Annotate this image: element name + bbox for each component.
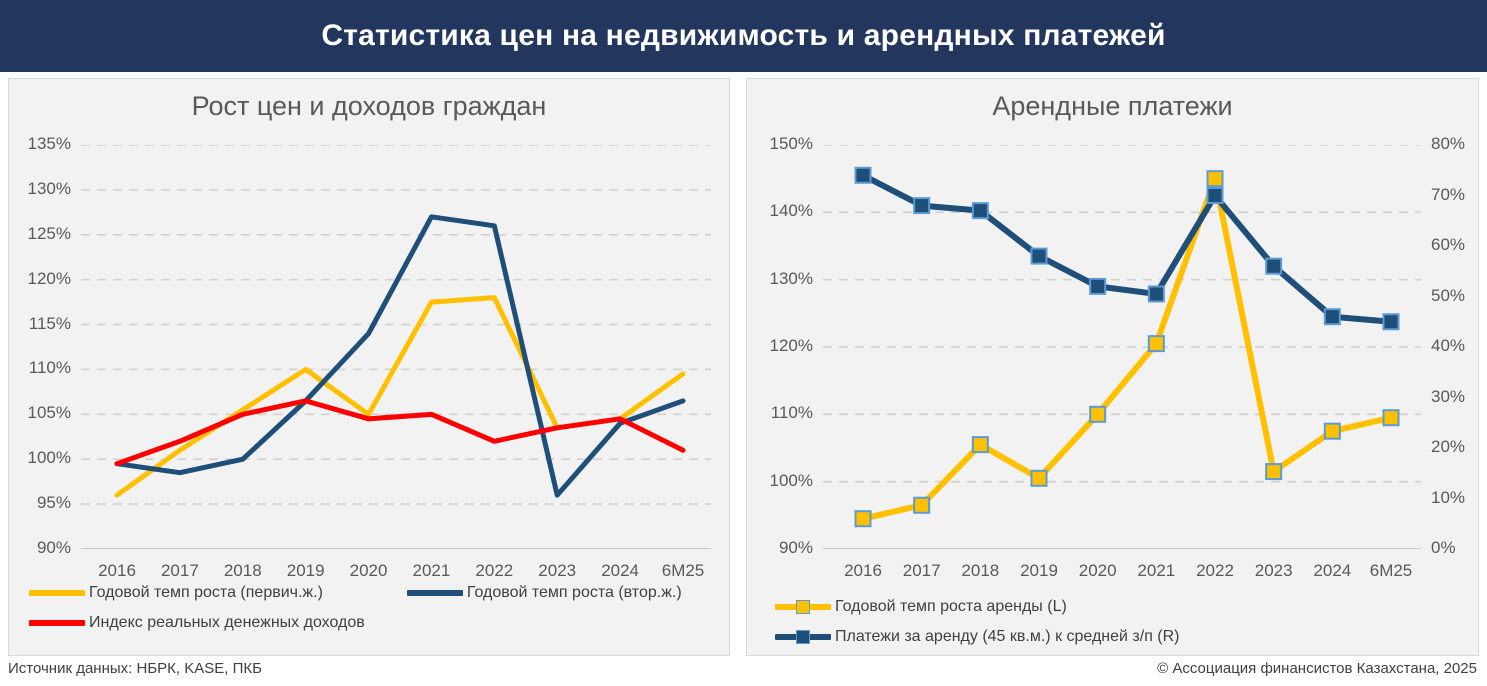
legend-swatch-icon [29, 620, 85, 626]
legend-item[interactable]: Годовой темп роста (втор.ж.) [407, 585, 682, 601]
page-title: Статистика цен на недвижимость и арендны… [321, 19, 1165, 53]
source-note: Источник данных: НБРК, KASE, ПКБ [8, 660, 262, 677]
x-tick-label: 2016 [83, 561, 151, 581]
page-banner: Статистика цен на недвижимость и арендны… [0, 0, 1487, 72]
legend-swatch-icon [29, 590, 85, 596]
y-tick-label-secondary: 60% [1431, 235, 1487, 255]
y-tick-label: 125% [19, 224, 71, 244]
data-point-marker [914, 198, 929, 213]
x-tick-label: 2018 [209, 561, 277, 581]
data-point-marker [914, 498, 929, 513]
legend-swatch-icon [407, 590, 463, 596]
x-tick-label: 6M25 [649, 561, 717, 581]
y-tick-label: 135% [19, 134, 71, 154]
data-point-marker [1208, 171, 1223, 186]
legend-label: Индекс реальных денежных доходов [89, 615, 365, 631]
data-point-marker [1149, 286, 1164, 301]
x-tick-label: 2023 [523, 561, 591, 581]
chart-legend-right: Годовой темп роста аренды (L)Платежи за … [775, 599, 1465, 645]
x-tick-label: 6M25 [1357, 561, 1425, 581]
legend-swatch-icon [775, 634, 831, 640]
y-tick-label: 130% [761, 269, 813, 289]
y-tick-label-secondary: 40% [1431, 336, 1487, 356]
data-point-marker [1090, 279, 1105, 294]
y-tick-label: 120% [19, 269, 71, 289]
x-tick-label: 2021 [397, 561, 465, 581]
y-tick-label: 120% [761, 336, 813, 356]
x-tick-label: 2017 [146, 561, 214, 581]
y-tick-label: 140% [761, 201, 813, 221]
data-point-marker [973, 203, 988, 218]
x-tick-label: 2019 [272, 561, 340, 581]
chart-svg-left [81, 145, 711, 549]
y-tick-label: 115% [19, 314, 71, 334]
data-point-marker [973, 437, 988, 452]
chart-legend-left: Годовой темп роста (первич.ж.)Годовой те… [29, 585, 719, 631]
data-point-marker [856, 168, 871, 183]
data-point-marker [1325, 309, 1340, 324]
y-tick-label: 130% [19, 179, 71, 199]
series-line-0 [863, 179, 1391, 519]
y-tick-label-secondary: 50% [1431, 286, 1487, 306]
legend-item[interactable]: Годовой темп роста (первич.ж.) [29, 585, 323, 601]
legend-label: Годовой темп роста аренды (L) [835, 599, 1067, 615]
y-tick-label: 110% [19, 358, 71, 378]
y-tick-label: 90% [761, 538, 813, 558]
chart-panel-left: Рост цен и доходов граждан 90%95%100%105… [8, 78, 730, 656]
y-tick-label-secondary: 30% [1431, 387, 1487, 407]
legend-swatch-icon [775, 604, 831, 610]
charts-container: Рост цен и доходов граждан 90%95%100%105… [0, 78, 1487, 656]
y-tick-label-secondary: 70% [1431, 185, 1487, 205]
data-point-marker [1208, 188, 1223, 203]
y-tick-label: 95% [19, 493, 71, 513]
legend-label: Годовой темп роста (втор.ж.) [467, 585, 682, 601]
y-tick-label-secondary: 80% [1431, 134, 1487, 154]
data-point-marker [1266, 464, 1281, 479]
data-point-marker [1149, 336, 1164, 351]
x-tick-label: 2024 [586, 561, 654, 581]
y-tick-label: 150% [761, 134, 813, 154]
y-tick-label: 105% [19, 403, 71, 423]
y-tick-label-secondary: 0% [1431, 538, 1487, 558]
plot-area-right [823, 145, 1421, 549]
y-tick-label-secondary: 10% [1431, 488, 1487, 508]
y-tick-label-secondary: 20% [1431, 437, 1487, 457]
chart-title-left: Рост цен и доходов граждан [9, 91, 729, 122]
chart-title-right: Арендные платежи [747, 91, 1478, 122]
data-point-marker [1384, 314, 1399, 329]
legend-label: Годовой темп роста (первич.ж.) [89, 585, 323, 601]
page-footer: Источник данных: НБРК, KASE, ПКБ © Ассоц… [0, 660, 1487, 686]
chart-panel-right: Арендные платежи 90%100%110%120%130%140%… [746, 78, 1479, 656]
x-tick-label: 2022 [460, 561, 528, 581]
data-point-marker [1032, 249, 1047, 264]
copyright-note: © Ассоциация финансистов Казахстана, 202… [1157, 660, 1477, 677]
series-line-1 [863, 175, 1391, 321]
data-point-marker [1384, 410, 1399, 425]
y-tick-label: 90% [19, 538, 71, 558]
chart-svg-right [823, 145, 1421, 549]
data-point-marker [1325, 424, 1340, 439]
legend-item[interactable]: Индекс реальных денежных доходов [29, 615, 365, 631]
plot-area-left [81, 145, 711, 549]
data-point-marker [856, 511, 871, 526]
x-tick-label: 2020 [335, 561, 403, 581]
y-tick-label: 110% [761, 403, 813, 423]
series-line-2 [117, 401, 683, 464]
y-tick-label: 100% [19, 448, 71, 468]
y-tick-label: 100% [761, 471, 813, 491]
data-point-marker [1266, 259, 1281, 274]
legend-item[interactable]: Платежи за аренду (45 кв.м.) к средней з… [775, 629, 1180, 645]
legend-item[interactable]: Годовой темп роста аренды (L) [775, 599, 1067, 615]
data-point-marker [1032, 471, 1047, 486]
legend-label: Платежи за аренду (45 кв.м.) к средней з… [835, 629, 1180, 645]
data-point-marker [1090, 407, 1105, 422]
